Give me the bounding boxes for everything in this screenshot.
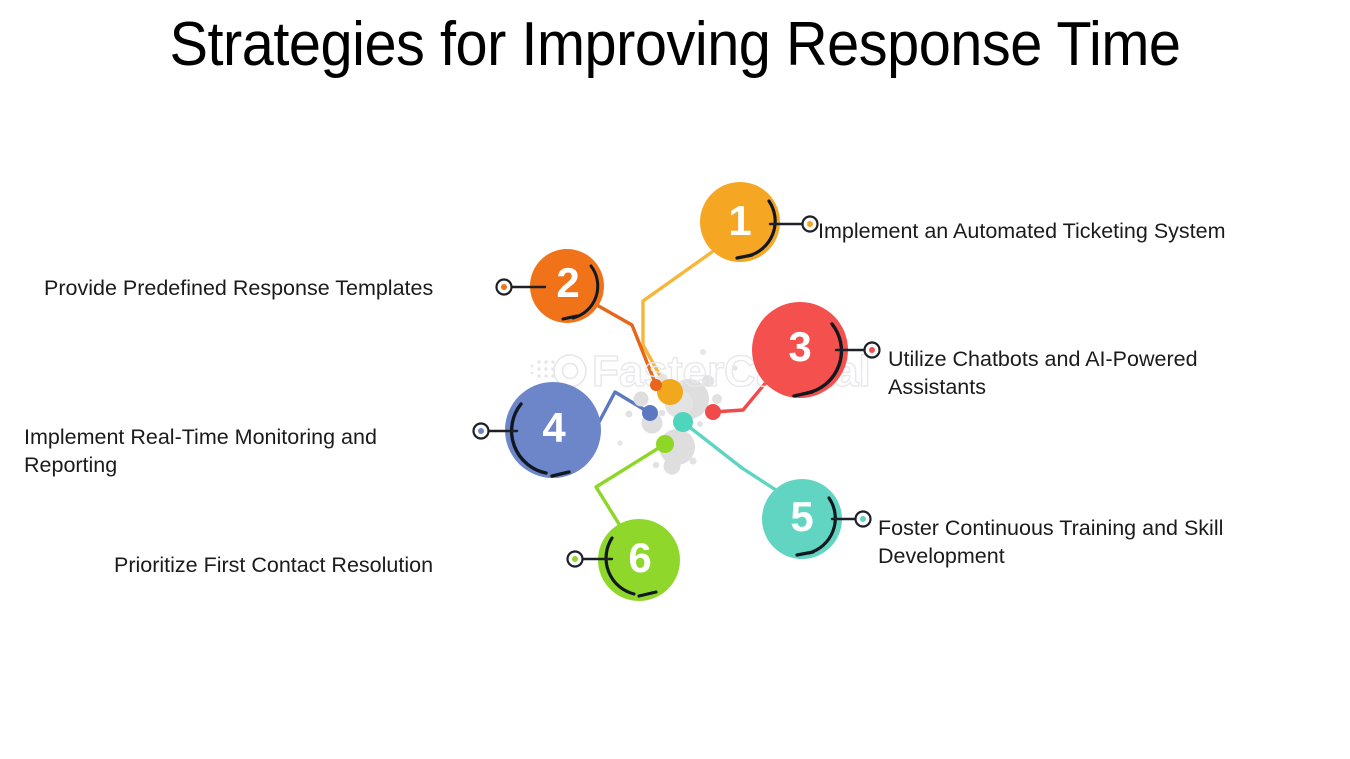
- label-marker-1: [803, 217, 818, 232]
- cluster-bubble: [617, 440, 622, 445]
- node-circle-5[interactable]: [762, 479, 842, 559]
- spoke-line-6: [596, 444, 665, 524]
- cluster-bubble: [626, 411, 633, 418]
- label-marker-3: [865, 343, 880, 358]
- endpoint-dot-4: [642, 405, 658, 421]
- node-circle-4[interactable]: [505, 382, 601, 478]
- label-marker-6: [568, 552, 583, 567]
- cluster-bubble: [659, 410, 665, 416]
- node-label-5: Foster Continuous Training and Skill Dev…: [878, 515, 1278, 570]
- label-marker-5: [856, 512, 871, 527]
- node-circle-1[interactable]: [700, 182, 780, 262]
- endpoint-dot-3: [705, 404, 721, 420]
- spoke-line-5: [683, 422, 779, 492]
- slide-canvas: Strategies for Improving Response Time: [0, 0, 1350, 759]
- label-marker-2: [497, 280, 512, 295]
- node-label-1: Implement an Automated Ticketing System: [818, 218, 1238, 246]
- cluster-bubble: [664, 458, 681, 475]
- cluster-bubble: [697, 421, 703, 427]
- cluster-bubble: [689, 457, 696, 464]
- node-label-6: Prioritize First Contact Resolution: [114, 552, 534, 580]
- node-circle-3[interactable]: [752, 302, 848, 398]
- endpoint-dot-5: [673, 412, 693, 432]
- node-label-3: Utilize Chatbots and AI-Powered Assistan…: [888, 346, 1288, 401]
- node-label-4: Implement Real-Time Monitoring and Repor…: [24, 424, 454, 479]
- cluster-bubble: [653, 462, 659, 468]
- label-marker-4: [474, 424, 489, 439]
- endpoint-dot-2: [650, 379, 662, 391]
- node-label-2: Provide Predefined Response Templates: [44, 275, 494, 303]
- endpoint-dot-6: [656, 435, 674, 453]
